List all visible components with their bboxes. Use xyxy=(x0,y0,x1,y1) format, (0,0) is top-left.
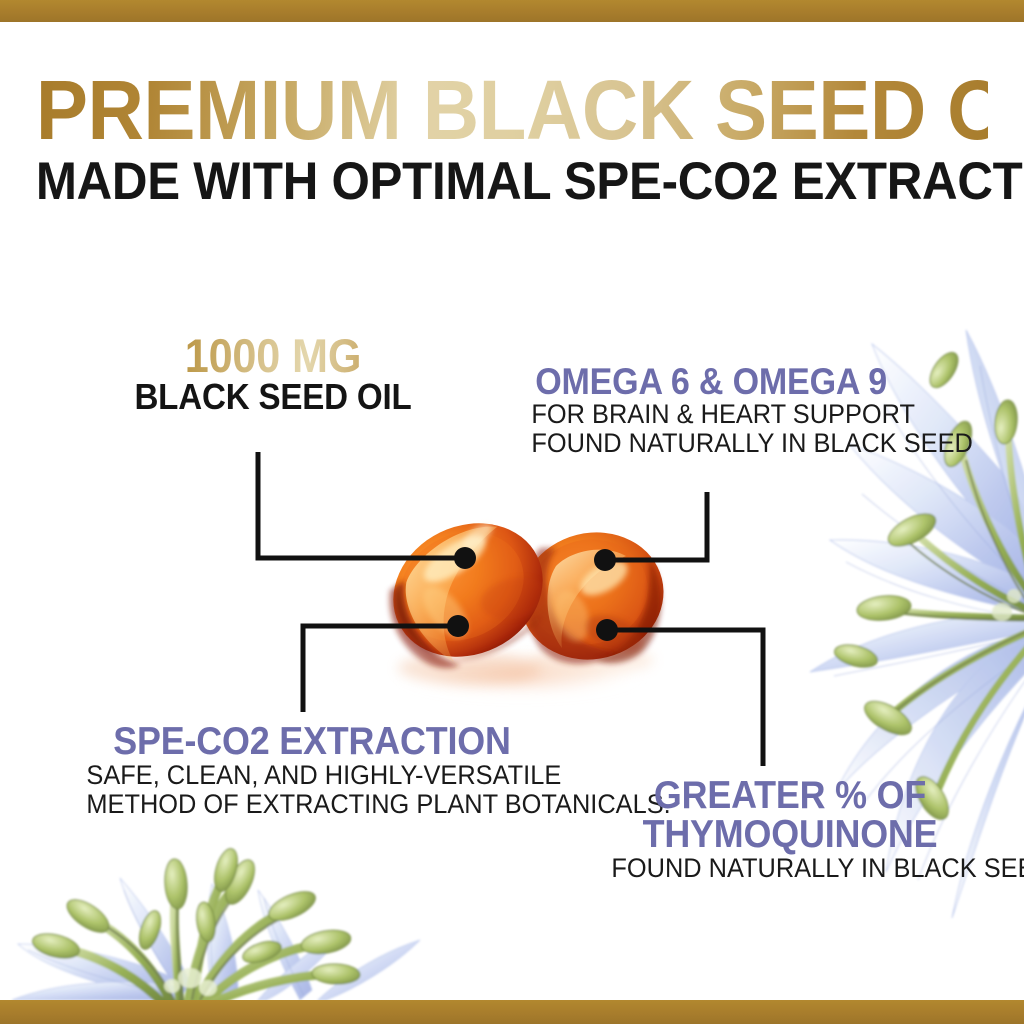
connector-dot-thymoquinone xyxy=(596,619,618,641)
connector-dot-dosage xyxy=(454,547,476,569)
connector-line-thymoquinone xyxy=(610,630,763,766)
connector-dot-omega xyxy=(594,549,616,571)
connector-line-dosage xyxy=(258,452,462,558)
connector-dot-extraction xyxy=(447,615,469,637)
callout-connectors xyxy=(0,0,1024,1024)
top-gold-border xyxy=(0,0,1024,22)
connector-line-omega xyxy=(608,492,707,560)
infographic-canvas: PREMIUM BLACK SEED OIL MADE WITH OPTIMAL… xyxy=(0,0,1024,1024)
connector-line-extraction xyxy=(303,626,458,712)
bottom-gold-border xyxy=(0,1000,1024,1024)
